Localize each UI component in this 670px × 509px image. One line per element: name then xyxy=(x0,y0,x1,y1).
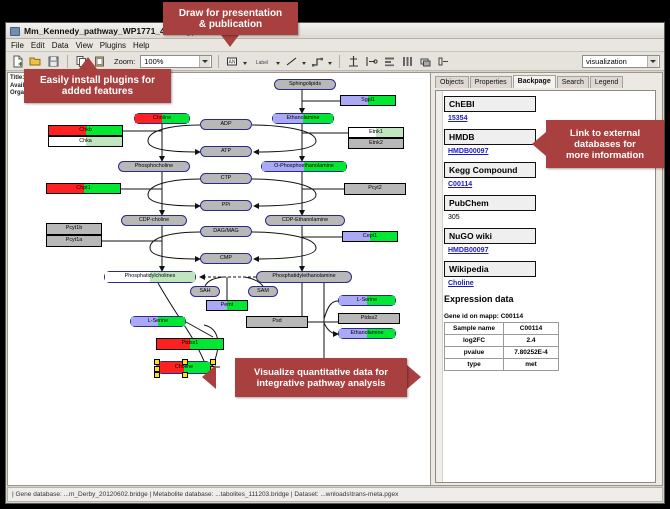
node-label: Ptdss2 xyxy=(361,316,377,321)
node-label: ATP xyxy=(221,149,231,154)
db-header-chebi: ChEBI xyxy=(444,96,536,112)
menu-item-help[interactable]: Help xyxy=(133,41,149,50)
gene-id-line: Gene id on mapp: C00114 xyxy=(444,313,652,320)
node-label: Phosphocholine xyxy=(135,164,173,169)
order-icon[interactable] xyxy=(418,54,433,69)
chevron-down-icon[interactable] xyxy=(647,56,658,67)
pathway-node-ptdss1[interactable]: Ptdss1 xyxy=(156,338,224,350)
layer-icon[interactable] xyxy=(436,54,451,69)
selection-handle[interactable] xyxy=(154,359,160,365)
tab-search[interactable]: Search xyxy=(557,76,589,88)
node-label: SAM xyxy=(257,289,269,294)
node-label: Ethanolamine xyxy=(287,116,320,121)
node-label: Sphingolipids xyxy=(289,82,321,87)
row-value-sample-name: C00114 xyxy=(504,323,559,335)
callout-links-arrow xyxy=(532,132,546,156)
chevron-down-icon[interactable] xyxy=(328,62,332,65)
callout-visualize-line2: integrative pathway analysis xyxy=(257,378,386,389)
group-icon[interactable] xyxy=(364,54,379,69)
db-header-pubchem: PubChem xyxy=(444,195,536,211)
stack-icon[interactable] xyxy=(382,54,397,69)
node-label: Pcyt1b xyxy=(66,226,82,231)
selection-handle[interactable] xyxy=(154,372,160,378)
row-key-pvalue: pvalue xyxy=(445,347,504,359)
selection-handle[interactable] xyxy=(182,359,188,365)
toolbar-separator xyxy=(339,55,340,68)
distribute-icon[interactable] xyxy=(400,54,415,69)
menu-item-data[interactable]: Data xyxy=(52,41,69,50)
chevron-down-icon[interactable] xyxy=(276,62,280,65)
pathway-node-sphingolipids[interactable]: Sphingolipids xyxy=(274,79,336,90)
row-value-type: met xyxy=(504,359,559,371)
node-label: Pcyt1a xyxy=(66,238,82,243)
node-label: Pcyt2 xyxy=(368,186,381,191)
screenshot-root: Mm_Kennedy_pathway_WP1771_45176.gp File … xyxy=(0,0,670,509)
zoom-value: 100% xyxy=(144,57,163,66)
visualization-value: visualization xyxy=(586,57,627,66)
pathway-node-cdp-ethanolamine[interactable]: CDP-Ethanolamine xyxy=(265,215,345,226)
visualization-combo[interactable]: visualization xyxy=(582,55,660,68)
svg-text:Label: Label xyxy=(256,60,268,66)
status-text: | Gene database: ...m_Derby_20120602.bri… xyxy=(12,491,398,498)
pathway-node-etnk2[interactable]: Etnk2 xyxy=(348,138,404,149)
node-label: Chkb xyxy=(79,128,92,133)
row-key-sample-name: Sample name xyxy=(445,323,504,335)
node-label: CDP-Ethanolamine xyxy=(282,218,328,223)
pathway-node-pcyt1a[interactable]: Pcyt1a xyxy=(46,235,102,247)
toolbar-separator xyxy=(67,55,68,68)
chevron-down-icon[interactable] xyxy=(243,62,247,65)
node-label: Etnk1 xyxy=(369,130,383,135)
callout-draw-line1: Draw for presentation xyxy=(179,8,282,19)
pathway-node-ethanolamine-bottom[interactable]: Ethanolamine xyxy=(338,328,396,339)
pathway-node-cept1[interactable]: Cept1 xyxy=(342,231,398,242)
status-bar: | Gene database: ...m_Derby_20120602.bri… xyxy=(7,487,663,502)
callout-plugins-line1: Easily install plugins for xyxy=(40,75,155,86)
line-icon[interactable] xyxy=(284,54,299,69)
pathvisio-icon xyxy=(10,26,20,36)
pathway-node-cdp-choline[interactable]: CDP-choline xyxy=(121,215,187,226)
db-header-nugo-wiki: NuGO wiki xyxy=(444,228,536,244)
callout-links-line2: databases for xyxy=(574,139,636,150)
node-label: Psd xyxy=(272,319,281,324)
callout-draw-arrow xyxy=(221,35,239,47)
pathway-canvas[interactable]: Title: Availability: Organism: xyxy=(7,72,431,486)
callout-draw-line2: & publication xyxy=(199,19,262,30)
pathway-node-dagmag[interactable]: DAG/MAG xyxy=(200,226,252,237)
node-label: DAG/MAG xyxy=(213,229,238,234)
tab-backpage[interactable]: Backpage xyxy=(513,75,556,88)
menu-item-file[interactable]: File xyxy=(11,41,24,50)
selection-handle[interactable] xyxy=(154,366,160,372)
pathway-node-ctp[interactable]: CTP xyxy=(200,173,252,184)
connector-icon[interactable] xyxy=(310,54,325,69)
node-label: ADP xyxy=(220,122,231,127)
pathway-node-sah[interactable]: SAH xyxy=(190,286,220,297)
row-key-log2fc: log2FC xyxy=(445,335,504,347)
pathway-node-pemt[interactable]: Pemt xyxy=(206,300,248,311)
pathway-node-choline-top[interactable]: Choline xyxy=(134,113,190,124)
pathway-node-phosphatidylcholines[interactable]: Phosphatidylcholines xyxy=(104,271,196,283)
node-label: L-Serine xyxy=(357,298,377,303)
pathway-node-ethanolamine-top[interactable]: Ethanolamine xyxy=(272,113,334,124)
node-label: CMP xyxy=(220,256,232,261)
node-label: Chka xyxy=(79,139,92,144)
node-icon[interactable]: AN xyxy=(225,54,240,69)
tab-objects[interactable]: Objects xyxy=(435,76,469,88)
callout-links-line1: Link to external xyxy=(570,128,640,139)
toolbar-separator xyxy=(218,55,219,68)
callout-visualize-arrow-right xyxy=(407,365,421,389)
pathway-node-phosphatidylethanolamine[interactable]: Phosphatidylethanolamine xyxy=(256,271,352,283)
zoom-label: Zoom: xyxy=(114,57,135,66)
node-label: Pemt xyxy=(221,303,234,308)
pathway-node-psd[interactable]: Psd xyxy=(246,316,308,328)
pathway-node-chka[interactable]: Chka xyxy=(48,136,123,147)
pathway-node-chpt1[interactable]: Chpt1 xyxy=(46,183,121,194)
row-value-pvalue: 7.80252E-4 xyxy=(504,347,559,359)
chevron-down-icon[interactable] xyxy=(302,62,306,65)
node-label: L-Serine xyxy=(148,319,168,324)
pathway-node-ptdss2[interactable]: Ptdss2 xyxy=(338,313,400,324)
tab-properties[interactable]: Properties xyxy=(470,76,512,88)
pathway-node-sgpl1[interactable]: Sgpl1 xyxy=(340,95,396,106)
table-row: Sample name C00114 xyxy=(445,323,559,335)
db-value-pubchem: 305 xyxy=(448,214,652,221)
pathway-node-adp[interactable]: ADP xyxy=(200,119,252,130)
node-label: O-Phosphoethanolamine xyxy=(274,164,334,169)
new-file-icon[interactable] xyxy=(10,54,25,69)
row-value-log2fc: 2.4 xyxy=(504,335,559,347)
pathway-node-pcyt1b[interactable]: Pcyt1b xyxy=(46,223,102,235)
node-label: Ptdss1 xyxy=(182,341,198,346)
db-header-kegg-compound: Kegg Compound xyxy=(444,162,536,178)
pathway-node-atp[interactable]: ATP xyxy=(200,146,252,157)
svg-text:AN: AN xyxy=(229,59,236,65)
open-folder-icon[interactable] xyxy=(28,54,43,69)
node-label: Phosphatidylethanolamine xyxy=(272,274,335,279)
node-label: Choline xyxy=(153,116,171,121)
table-row: pvalue 7.80252E-4 xyxy=(445,347,559,359)
db-link-wikipedia[interactable]: Choline xyxy=(448,280,652,287)
pathway-node-etnk1[interactable]: Etnk1 xyxy=(348,127,404,138)
pathway-node-pcyt2[interactable]: Pcyt2 xyxy=(344,183,406,195)
expression-table: Sample name C00114 log2FC 2.4 pvalue 7.8… xyxy=(444,322,559,371)
pathway-node-chkb[interactable]: Chkb xyxy=(48,125,123,136)
panel-scrollbar[interactable] xyxy=(436,91,443,482)
row-key-type: type xyxy=(445,359,504,371)
node-label: Sgpl1 xyxy=(361,98,375,103)
label-icon[interactable]: Label xyxy=(251,54,273,69)
table-row: type met xyxy=(445,359,559,371)
node-label: CTP xyxy=(221,176,232,181)
db-link-nugo-wiki[interactable]: HMDB00097 xyxy=(448,247,652,254)
pathway-node-cmp[interactable]: CMP xyxy=(200,253,252,264)
callout-visualize: Visualize quantitative data for integrat… xyxy=(235,358,407,397)
menu-item-plugins[interactable]: Plugins xyxy=(100,41,126,50)
callout-visualize-arrow-left xyxy=(202,365,216,389)
align-icon[interactable] xyxy=(346,54,361,69)
node-label: Choline xyxy=(175,365,193,370)
db-header-hmdb: HMDB xyxy=(444,129,536,145)
panel-tabs: Objects Properties Backpage Search Legen… xyxy=(431,75,662,88)
selection-handle[interactable] xyxy=(182,372,188,378)
node-label: PPi xyxy=(222,203,230,208)
pathway-node-l-serine-right[interactable]: L-Serine xyxy=(338,295,396,306)
callout-plugins-arrow xyxy=(79,57,97,69)
pathway-node-sam[interactable]: SAM xyxy=(248,286,278,297)
expression-data-title: Expression data xyxy=(444,294,652,304)
chevron-down-icon[interactable] xyxy=(199,56,210,67)
node-label: Etnk2 xyxy=(369,141,383,146)
node-label: Chpt1 xyxy=(76,186,90,191)
pathway-node-ppi[interactable]: PPi xyxy=(200,200,252,211)
node-label: Phosphatidylcholines xyxy=(125,274,176,279)
callout-plugins: Easily install plugins for added feature… xyxy=(24,69,171,103)
callout-draw: Draw for presentation & publication xyxy=(163,2,298,35)
callout-links-line3: more information xyxy=(566,150,644,161)
callout-plugins-line2: added features xyxy=(62,86,133,97)
db-header-wikipedia: Wikipedia xyxy=(444,261,536,277)
pathway-node-o-phosphoethanolamine[interactable]: O-Phosphoethanolamine xyxy=(261,161,347,172)
pathway-node-l-serine-left[interactable]: L-Serine xyxy=(130,316,186,327)
menu-item-edit[interactable]: Edit xyxy=(31,41,45,50)
tab-legend[interactable]: Legend xyxy=(590,76,623,88)
zoom-combo[interactable]: 100% xyxy=(140,55,212,68)
callout-visualize-line1: Visualize quantitative data for xyxy=(254,367,388,378)
node-label: CDP-choline xyxy=(139,218,169,223)
table-row: log2FC 2.4 xyxy=(445,335,559,347)
menu-bar: File Edit Data View Plugins Help xyxy=(6,39,664,52)
pathway-node-phosphocholine[interactable]: Phosphocholine xyxy=(118,161,190,172)
node-label: SAH xyxy=(199,289,210,294)
node-label: Ethanolamine xyxy=(351,331,384,336)
db-link-kegg-compound[interactable]: C00114 xyxy=(448,181,652,188)
title-bar: Mm_Kennedy_pathway_WP1771_45176.gp xyxy=(6,23,664,39)
menu-item-view[interactable]: View xyxy=(76,41,93,50)
callout-links: Link to external databases for more info… xyxy=(546,120,664,168)
node-label: Cept1 xyxy=(363,234,377,239)
save-icon[interactable] xyxy=(46,54,61,69)
